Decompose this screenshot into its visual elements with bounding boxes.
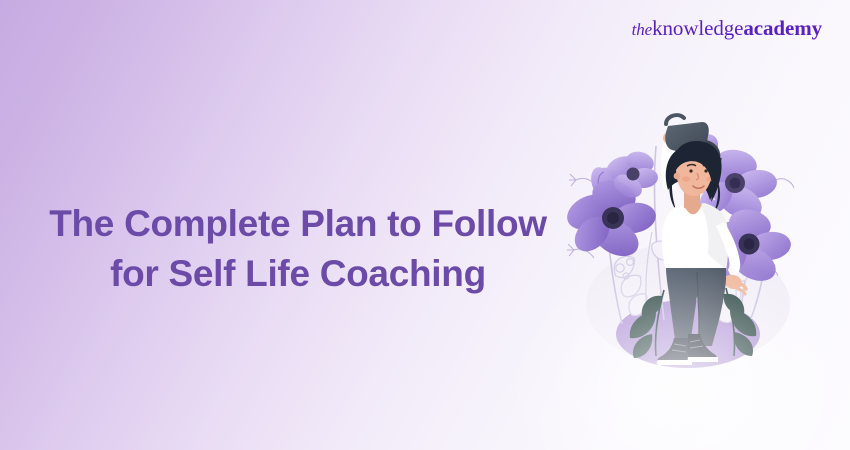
logo-text-the: the (632, 20, 652, 39)
page-title-line-1: The Complete Plan to Follow (36, 199, 560, 249)
hero-illustration-svg (560, 72, 810, 372)
logo-text-knowledge: knowledge (652, 16, 743, 40)
banner: theknowledgeacademy The Complete Plan to… (0, 0, 850, 450)
hero-illustration (560, 72, 810, 372)
brand-logo[interactable]: theknowledgeacademy (632, 18, 822, 39)
page-title-line-2: for Self Life Coaching (36, 249, 560, 299)
logo-text-academy: academy (743, 16, 822, 40)
page-title: The Complete Plan to Follow for Self Lif… (36, 199, 560, 299)
